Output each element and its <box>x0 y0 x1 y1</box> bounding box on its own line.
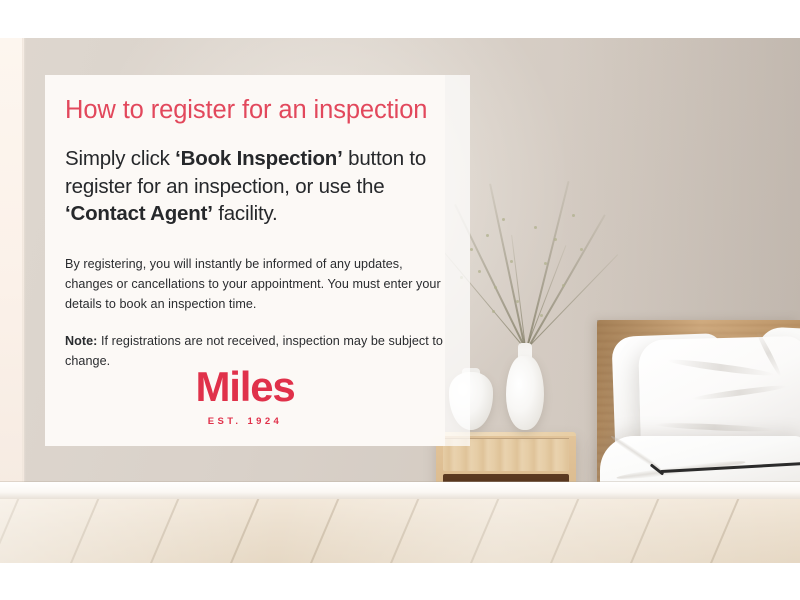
miles-logo: Miles EST. 1924 <box>45 366 445 427</box>
letterbox-top <box>0 0 800 38</box>
nightstand-top <box>436 432 576 436</box>
info-card: How to register for an inspection Simply… <box>45 75 445 446</box>
letterbox-bottom <box>0 563 800 600</box>
logo-wordmark: Miles <box>45 366 445 408</box>
baseboard <box>0 482 800 500</box>
pillow-crease <box>667 357 775 378</box>
floor-sheen <box>0 499 800 563</box>
note-label: Note: <box>65 334 97 348</box>
pillow-crease <box>654 422 774 433</box>
pillow-crease <box>692 383 788 401</box>
banner-image: How to register for an inspection Simply… <box>0 0 800 600</box>
card-title: How to register for an inspection <box>65 95 445 125</box>
card-lead-text: Simply click ‘Book Inspection’ button to… <box>65 145 445 228</box>
book-inspection-emphasis: ‘Book Inspection’ <box>175 147 342 170</box>
wall-corner-edge <box>22 38 26 490</box>
logo-established-text: EST. 1924 <box>45 417 445 427</box>
lead-part-3: facility. <box>213 202 278 225</box>
nightstand-drawer <box>443 439 569 471</box>
nightstand-drawer-seam <box>443 438 569 439</box>
tall-vase <box>506 356 544 430</box>
left-wall <box>0 38 24 490</box>
wood-floor <box>0 499 800 563</box>
contact-agent-emphasis: ‘Contact Agent’ <box>65 202 213 225</box>
lead-part-1: Simply click <box>65 147 175 170</box>
registration-paragraph: By registering, you will instantly be in… <box>65 255 445 315</box>
